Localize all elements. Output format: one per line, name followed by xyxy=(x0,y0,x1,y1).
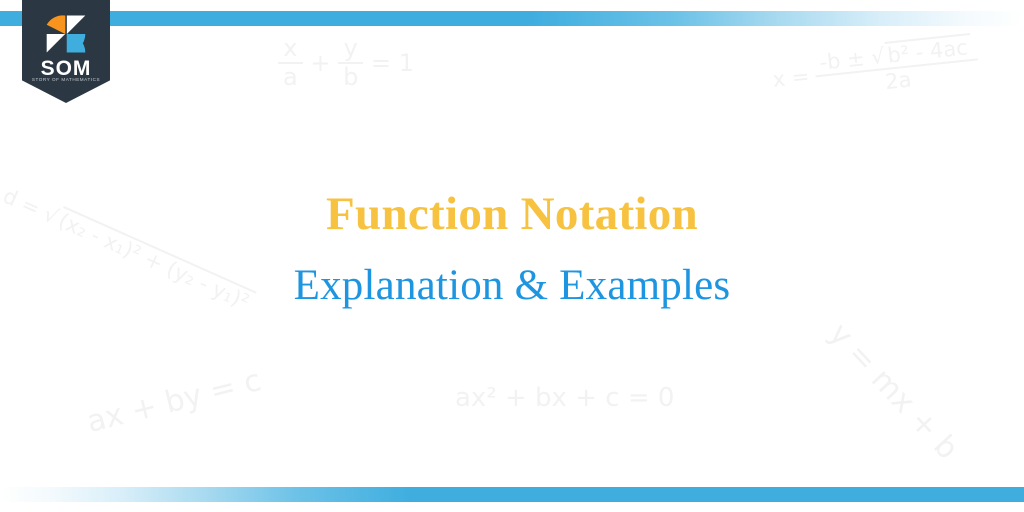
page-title: Function Notation xyxy=(0,186,1024,242)
title-card: x a + y b = 1 x = -b ± √b² - 4ac 2a d = … xyxy=(0,0,1024,512)
formula-quadratic-formula: x = -b ± √b² - 4ac 2a xyxy=(770,32,980,104)
numerator-x: x xyxy=(278,36,303,64)
numerator-y: y xyxy=(338,36,363,64)
som-logo-banner[interactable]: SOM STORY OF MATHEMATICS xyxy=(22,0,110,103)
som-logo-wordmark: SOM xyxy=(22,58,110,79)
formula-quadratic-standard-form: ax² + bx + c = 0 xyxy=(455,385,674,412)
plus-sign: + xyxy=(310,51,330,76)
top-accent-bar xyxy=(0,11,1024,26)
fraction-y-over-b: y b xyxy=(338,36,363,90)
headline-block: Function Notation Explanation & Examples xyxy=(0,186,1024,312)
fraction-x-over-a: x a xyxy=(278,36,303,90)
som-logo-mark-icon xyxy=(45,13,87,55)
som-logo-tagline: STORY OF MATHEMATICS xyxy=(22,78,110,83)
quadratic-lhs: x = xyxy=(772,65,811,91)
formula-slope-intercept-form: y = mx + b xyxy=(823,318,963,465)
page-subtitle: Explanation & Examples xyxy=(0,260,1024,312)
numerator-lead: -b ± xyxy=(818,46,865,75)
formula-linear-standard-form: ax + by = c xyxy=(84,365,264,439)
bottom-accent-bar xyxy=(0,487,1024,502)
equals-one: = 1 xyxy=(371,51,414,76)
sqrt-icon: √ xyxy=(870,44,886,69)
denominator-a: a xyxy=(278,64,303,90)
denominator-b: b xyxy=(338,64,363,90)
quadratic-fraction: -b ± √b² - 4ac 2a xyxy=(813,32,980,100)
formula-intercept-form: x a + y b = 1 xyxy=(278,36,414,90)
